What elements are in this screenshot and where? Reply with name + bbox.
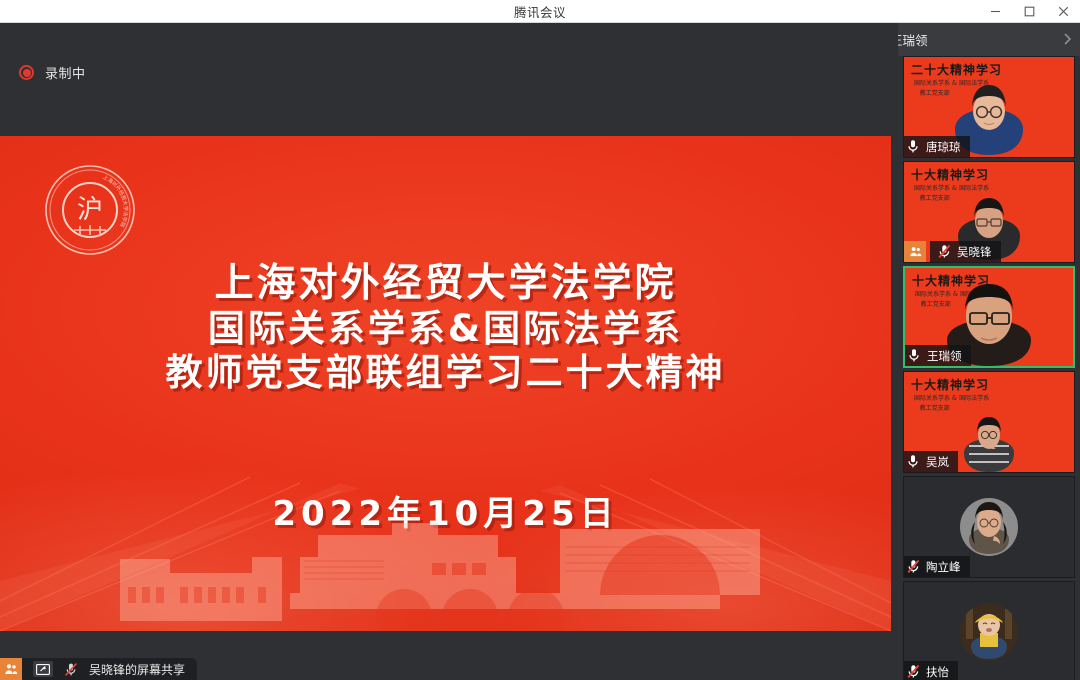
mic-icon bbox=[904, 139, 922, 154]
participant-name-chip: 吴岚 bbox=[904, 451, 958, 472]
participant-name: 陶立峰 bbox=[926, 559, 961, 575]
minimize-button[interactable] bbox=[978, 0, 1012, 23]
meeting-window: 腾讯会议 录制中 bbox=[0, 0, 1080, 680]
recording-indicator: 录制中 bbox=[19, 63, 86, 82]
tile-slide-sub: 国际关系学系 & 国际法学系 教工党支部 bbox=[914, 394, 989, 413]
participant-tile[interactable]: 十大精神学习 国际关系学系 & 国际法学系 教工党支部 bbox=[903, 371, 1075, 473]
recording-label: 录制中 bbox=[45, 63, 86, 82]
participant-name-chip: 王瑞领 bbox=[905, 345, 971, 366]
participant-tile[interactable]: 十大精神学习 国际关系学系 & 国际法学系 教工党支部 bbox=[903, 161, 1075, 263]
avatar bbox=[960, 603, 1018, 661]
headline-line-2: 国际关系学系&国际法学系 bbox=[0, 307, 891, 351]
window-title: 腾讯会议 bbox=[514, 2, 566, 21]
avatar bbox=[960, 498, 1018, 556]
tile-slide-title: 二十大精神学习 bbox=[911, 61, 1002, 78]
participant-name: 王瑞领 bbox=[927, 348, 962, 364]
title-bar: 腾讯会议 bbox=[0, 0, 1080, 23]
headline-line-1: 上海对外经贸大学法学院 bbox=[0, 261, 891, 307]
participant-webcam-figure bbox=[957, 416, 1021, 472]
recording-bar: 录制中 bbox=[0, 23, 898, 112]
participants-panel: 正在讲话: 王瑞领 二十大精神学习 国际关系学系 & 国际法学系 教工党支部 bbox=[898, 23, 1080, 680]
active-speaker-bar: 正在讲话: 王瑞领 bbox=[898, 23, 1080, 56]
chevron-right-icon[interactable] bbox=[1058, 30, 1076, 48]
record-dot-icon bbox=[19, 65, 34, 80]
close-button[interactable] bbox=[1046, 0, 1080, 23]
mic-icon bbox=[904, 454, 922, 469]
participant-tiles: 二十大精神学习 国际关系学系 & 国际法学系 教工党支部 bbox=[903, 56, 1075, 680]
participant-name: 吴岚 bbox=[926, 454, 949, 470]
participant-name-chip: 唐琼琼 bbox=[904, 136, 970, 157]
mic-muted-icon bbox=[60, 658, 82, 680]
participant-name-body: 吴晓锋 bbox=[930, 241, 1001, 262]
window-controls bbox=[978, 0, 1080, 23]
screen-share-icon bbox=[33, 661, 53, 677]
headline-line-3: 教师党支部联组学习二十大精神 bbox=[0, 351, 891, 395]
active-speaker-text: 正在讲话: 王瑞领 bbox=[898, 30, 927, 49]
svg-text:沪: 沪 bbox=[77, 195, 103, 225]
mic-muted-icon bbox=[935, 244, 953, 259]
participant-name-chip: 扶怡 bbox=[904, 661, 958, 680]
university-seal-logo: 上海对外经贸大学法学院 沪 bbox=[44, 164, 136, 256]
participant-tile[interactable]: 陶立峰 bbox=[903, 476, 1075, 578]
share-status-chip: 吴晓锋的屏幕共享 bbox=[0, 658, 197, 680]
mic-icon bbox=[905, 348, 923, 363]
slide-headline: 上海对外经贸大学法学院 国际关系学系&国际法学系 教师党支部联组学习二十大精神 bbox=[0, 261, 891, 394]
maximize-button[interactable] bbox=[1012, 0, 1046, 23]
participant-name: 吴晓锋 bbox=[957, 244, 992, 260]
campus-skyline-graphic bbox=[0, 501, 891, 631]
shared-screen-stage[interactable]: 录制中 上海对外经贸大学法学 bbox=[0, 23, 898, 680]
mic-muted-icon bbox=[904, 664, 922, 679]
share-status-text: 吴晓锋的屏幕共享 bbox=[89, 661, 185, 678]
participant-name: 唐琼琼 bbox=[926, 139, 961, 155]
participant-name: 扶怡 bbox=[926, 664, 949, 680]
mic-muted-icon bbox=[904, 559, 922, 574]
share-status-bar: 吴晓锋的屏幕共享 bbox=[0, 654, 898, 680]
host-people-icon bbox=[0, 658, 22, 680]
participant-tile[interactable]: 十大精神学习 国际关系学系 & 国际法学系 教工党支部 bbox=[903, 266, 1075, 368]
presentation-slide: 上海对外经贸大学法学院 沪 上海对外经贸大学法学院 国际关系学系&国际法学系 教… bbox=[0, 136, 891, 631]
participant-tile[interactable]: 二十大精神学习 国际关系学系 & 国际法学系 教工党支部 bbox=[903, 56, 1075, 158]
participant-name-chip: 陶立峰 bbox=[904, 556, 970, 577]
host-people-icon bbox=[904, 241, 926, 262]
participant-name-chip: 吴晓锋 bbox=[904, 241, 1001, 262]
tile-slide-title: 十大精神学习 bbox=[911, 166, 989, 183]
tile-slide-title: 十大精神学习 bbox=[911, 376, 989, 393]
participant-tile[interactable]: 扶怡 bbox=[903, 581, 1075, 680]
